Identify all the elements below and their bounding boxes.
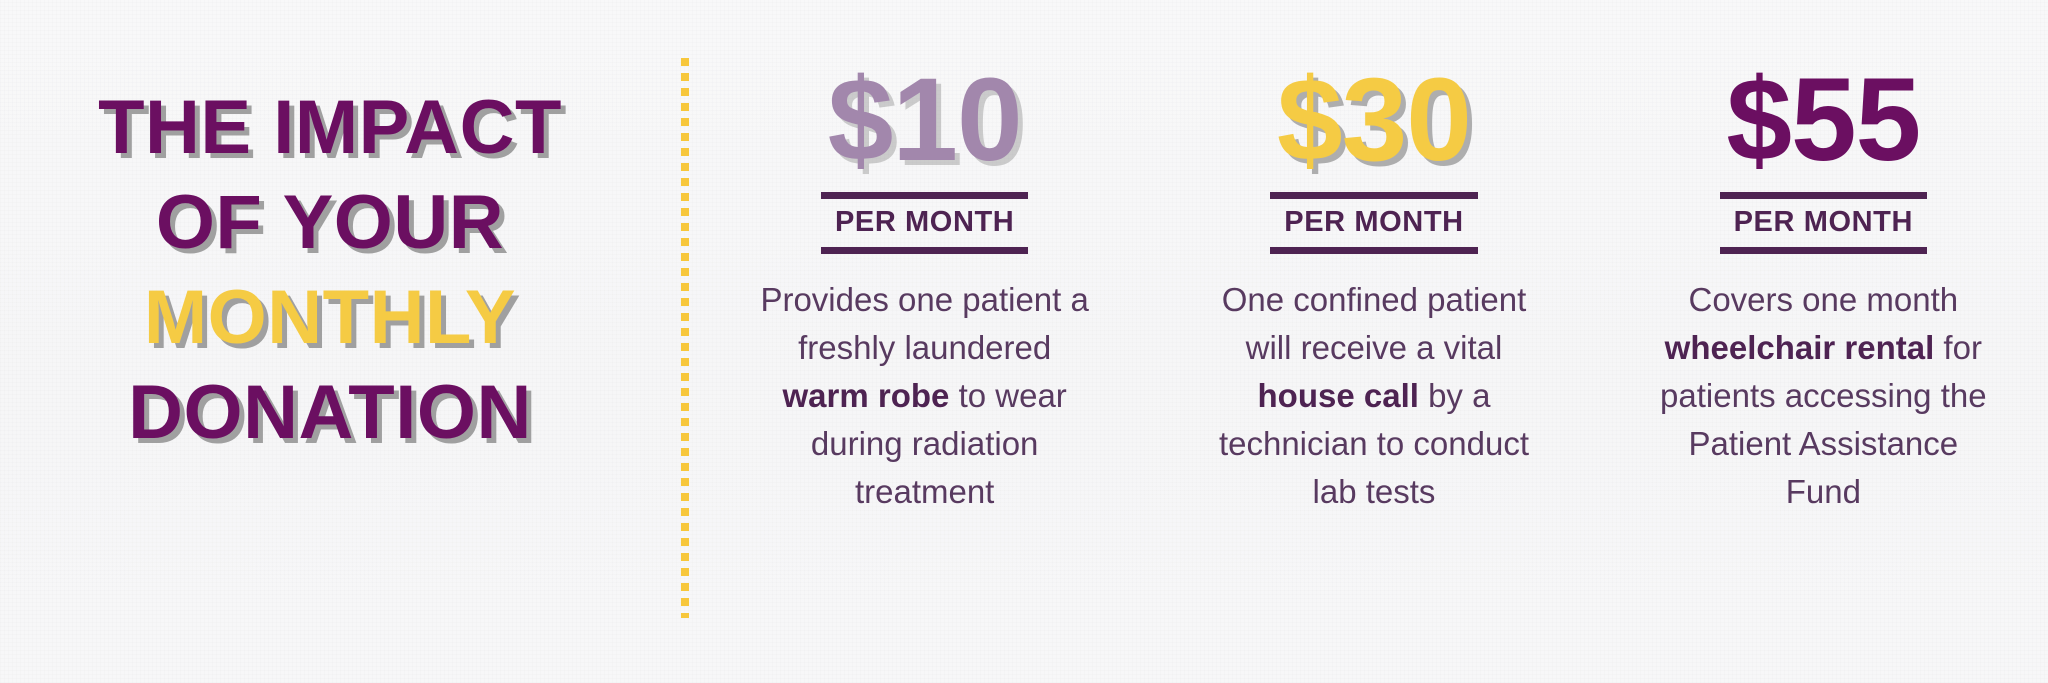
rule-bottom bbox=[821, 247, 1028, 254]
per-month-label: PER MONTH bbox=[1270, 199, 1477, 247]
per-month-label: PER MONTH bbox=[1720, 199, 1927, 247]
rule-bottom bbox=[1720, 247, 1927, 254]
tier-card-55: $55 PER MONTH Covers one month wheelchai… bbox=[1599, 58, 2048, 516]
per-month-block: PER MONTH bbox=[821, 192, 1028, 254]
headline-line-4: DONATION bbox=[0, 365, 660, 460]
tier-description: Covers one month wheelchair rental for p… bbox=[1658, 276, 1988, 516]
rule-top bbox=[1720, 192, 1927, 199]
per-month-block: PER MONTH bbox=[1720, 192, 1927, 254]
rule-bottom bbox=[1270, 247, 1477, 254]
per-month-block: PER MONTH bbox=[1270, 192, 1477, 254]
tier-description: Provides one patient a freshly laundered… bbox=[760, 276, 1090, 516]
tier-list: $10 PER MONTH Provides one patient a fre… bbox=[700, 58, 2048, 516]
tier-description: One confined patient will receive a vita… bbox=[1209, 276, 1539, 516]
per-month-label: PER MONTH bbox=[821, 199, 1028, 247]
page-title: THE IMPACT OF YOUR MONTHLY DONATION bbox=[0, 80, 660, 460]
tier-amount: $55 bbox=[1726, 58, 1920, 182]
headline-line-1: THE IMPACT bbox=[0, 80, 660, 175]
rule-top bbox=[821, 192, 1028, 199]
headline-line-3: MONTHLY bbox=[0, 270, 660, 365]
impact-infographic: THE IMPACT OF YOUR MONTHLY DONATION $10 … bbox=[0, 0, 2048, 683]
tier-amount: $30 bbox=[1277, 58, 1471, 182]
tier-amount: $10 bbox=[828, 58, 1022, 182]
dotted-divider bbox=[681, 58, 689, 618]
tier-card-10: $10 PER MONTH Provides one patient a fre… bbox=[700, 58, 1149, 516]
rule-top bbox=[1270, 192, 1477, 199]
tier-card-30: $30 PER MONTH One confined patient will … bbox=[1149, 58, 1598, 516]
headline-line-2: OF YOUR bbox=[0, 175, 660, 270]
